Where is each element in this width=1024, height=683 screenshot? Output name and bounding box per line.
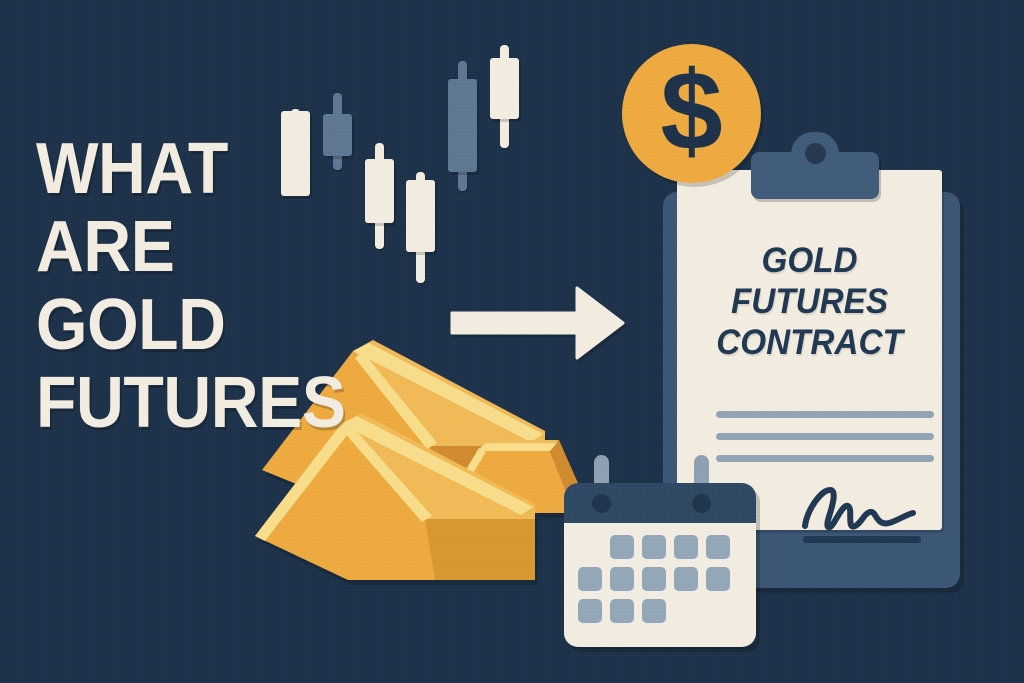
- calendar-body: [564, 483, 756, 647]
- calendar-day-cell: [706, 535, 730, 559]
- calendar-grid: [578, 535, 746, 631]
- calendar-row: [578, 535, 746, 559]
- calendar-day-cell: [578, 599, 602, 623]
- dollar-coin-icon: $: [622, 44, 761, 183]
- contract-title-line-2: FUTURES: [684, 281, 936, 322]
- calendar-day-cell: [642, 599, 666, 623]
- candlestick-body: [490, 58, 519, 119]
- calendar-day-cell: [610, 599, 634, 623]
- contract-title: GOLD FUTURES CONTRACT: [677, 240, 942, 363]
- calendar-day-empty: [706, 599, 730, 623]
- calendar-day-cell: [674, 535, 698, 559]
- contract-rule-line: [716, 433, 934, 440]
- calendar-day-cell: [610, 567, 634, 591]
- calendar-ring-hole: [592, 494, 611, 513]
- candlestick-6: [490, 45, 519, 310]
- candlestick-body: [406, 180, 435, 252]
- poster-canvas: WHAT ARE GOLD FUTURES $: [0, 0, 1024, 683]
- candlestick-body: [448, 79, 477, 172]
- headline-line-1: WHAT: [36, 130, 346, 208]
- headline-line-4: FUTURES: [36, 364, 346, 442]
- candlestick-5: [448, 45, 477, 310]
- clipboard-clip-hole: [805, 143, 826, 164]
- calendar-day-cell: [706, 567, 730, 591]
- signature-icon: [797, 480, 932, 548]
- calendar-day-cell: [642, 567, 666, 591]
- dollar-sign-glyph: $: [622, 44, 761, 183]
- headline-line-2: ARE: [36, 208, 346, 286]
- calendar-ring-hole: [692, 494, 711, 513]
- calendar-header: [564, 483, 756, 523]
- calendar-day-cell: [642, 535, 666, 559]
- candlestick-4: [406, 45, 435, 310]
- contract-title-line-3: CONTRACT: [684, 322, 936, 363]
- contract-rule-line: [716, 411, 934, 418]
- calendar-icon: [552, 455, 757, 647]
- contract-title-line-1: GOLD: [684, 240, 936, 281]
- headline-line-3: GOLD: [36, 286, 346, 364]
- calendar-day-cell: [610, 535, 634, 559]
- calendar-day-empty: [578, 535, 602, 559]
- calendar-row: [578, 599, 746, 623]
- calendar-day-cell: [578, 567, 602, 591]
- calendar-row: [578, 567, 746, 591]
- clipboard-clip: [751, 152, 879, 199]
- page-title: WHAT ARE GOLD FUTURES: [36, 130, 373, 442]
- calendar-day-empty: [674, 599, 698, 623]
- calendar-day-cell: [674, 567, 698, 591]
